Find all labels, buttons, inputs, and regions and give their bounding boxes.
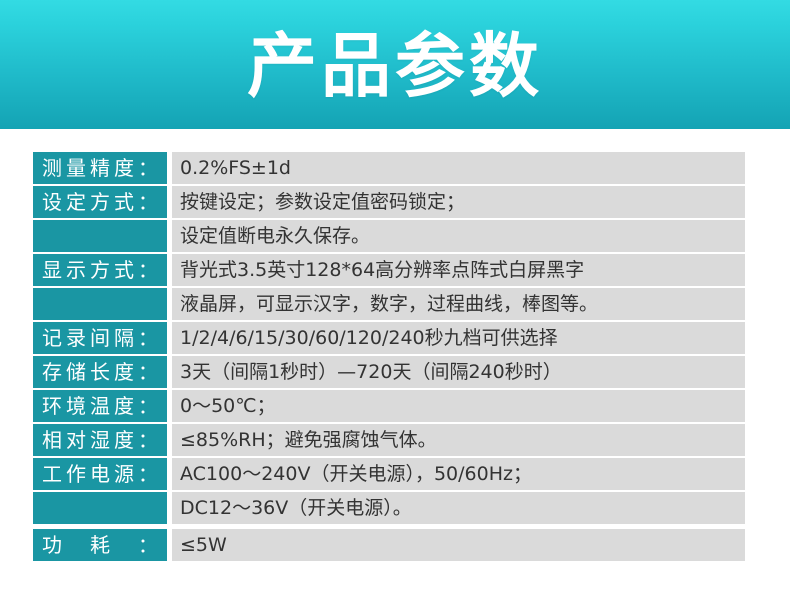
spec-label: 工作电源：	[33, 458, 167, 490]
spec-value: 1/2/4/6/15/30/60/120/240秒九档可供选择	[172, 322, 745, 354]
spec-value: 按键设定；参数设定值密码锁定；	[172, 186, 745, 218]
spec-value: 设定值断电永久保存。	[172, 220, 745, 252]
spec-row: 液晶屏，可显示汉字，数字，过程曲线，棒图等。	[33, 288, 745, 320]
spec-label: 环境温度：	[33, 390, 167, 422]
spec-value: DC12～36V（开关电源）。	[172, 492, 745, 524]
spec-label: 功 耗 ：	[33, 529, 167, 561]
spec-row: 设定方式：按键设定；参数设定值密码锁定；	[33, 186, 745, 218]
spec-row: 相对湿度：≤85%RH；避免强腐蚀气体。	[33, 424, 745, 456]
spec-value: 液晶屏，可显示汉字，数字，过程曲线，棒图等。	[172, 288, 745, 320]
spec-row: 显示方式：背光式3.5英寸128*64高分辨率点阵式白屏黑字	[33, 254, 745, 286]
spec-row: 设定值断电永久保存。	[33, 220, 745, 252]
spec-row: 功 耗 ：≤5W	[33, 529, 745, 561]
spec-label: 测量精度：	[33, 152, 167, 184]
spec-value: 3天（间隔1秒时）—720天（间隔240秒时）	[172, 356, 745, 388]
spec-label: 记录间隔：	[33, 322, 167, 354]
spec-row: 存储长度：3天（间隔1秒时）—720天（间隔240秒时）	[33, 356, 745, 388]
spec-table: 测量精度：0.2%FS±1d设定方式：按键设定；参数设定值密码锁定；设定值断电永…	[33, 152, 745, 563]
spec-row: 工作电源：AC100～240V（开关电源），50/60Hz；	[33, 458, 745, 490]
spec-value: 0.2%FS±1d	[172, 152, 745, 184]
spec-row: DC12～36V（开关电源）。	[33, 492, 745, 524]
spec-row: 记录间隔：1/2/4/6/15/30/60/120/240秒九档可供选择	[33, 322, 745, 354]
spec-label: 相对湿度：	[33, 424, 167, 456]
spec-label: 设定方式：	[33, 186, 167, 218]
page-title: 产品参数	[247, 31, 543, 101]
product-spec-page: 产品参数 测量精度：0.2%FS±1d设定方式：按键设定；参数设定值密码锁定；设…	[0, 0, 790, 592]
spec-label: 存储长度：	[33, 356, 167, 388]
spec-label	[33, 492, 167, 524]
spec-row: 环境温度：0～50℃；	[33, 390, 745, 422]
spec-label: 显示方式：	[33, 254, 167, 286]
spec-label	[33, 220, 167, 252]
spec-row: 测量精度：0.2%FS±1d	[33, 152, 745, 184]
spec-value: ≤85%RH；避免强腐蚀气体。	[172, 424, 745, 456]
spec-label	[33, 288, 167, 320]
spec-value: AC100～240V（开关电源），50/60Hz；	[172, 458, 745, 490]
spec-value: ≤5W	[172, 529, 745, 561]
page-banner: 产品参数	[0, 0, 790, 129]
spec-value: 背光式3.5英寸128*64高分辨率点阵式白屏黑字	[172, 254, 745, 286]
spec-value: 0～50℃；	[172, 390, 745, 422]
